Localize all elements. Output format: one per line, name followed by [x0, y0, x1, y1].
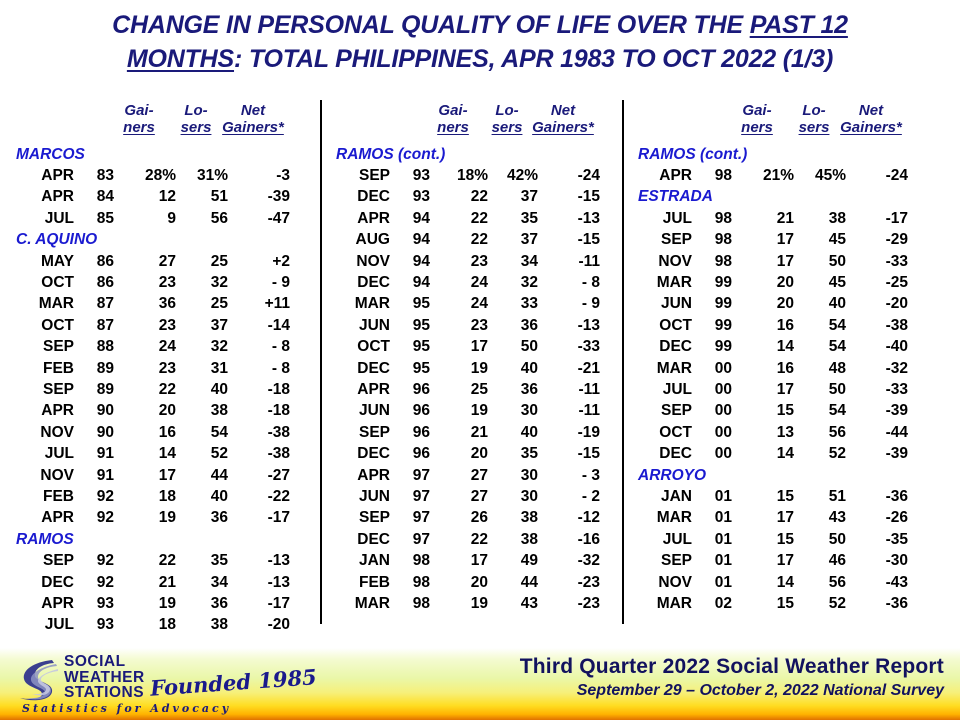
cell-net-gainers: -36 — [846, 488, 908, 506]
table-row: MAY862725+2 — [0, 251, 320, 272]
cell-year: 93 — [74, 595, 114, 613]
cell-gainers: 24 — [430, 274, 488, 292]
cell-month: JUL — [624, 381, 692, 399]
cell-gainers: 14 — [732, 574, 794, 592]
cell-year: 98 — [692, 231, 732, 249]
administration-label: RAMOS (cont.) — [322, 146, 622, 164]
cell-gainers: 20 — [430, 574, 488, 592]
cell-net-gainers: - 2 — [538, 488, 600, 506]
title-line2-plain: : TOTAL PHILIPPINES, APR 1983 TO OCT 202… — [234, 45, 833, 73]
cell-month: DEC — [624, 445, 692, 463]
cell-month: APR — [322, 210, 390, 228]
cell-gainers: 22 — [430, 210, 488, 228]
table-row: DEC962035-15 — [322, 443, 622, 464]
cell-losers: 35 — [488, 445, 538, 463]
cell-month: MAR — [624, 274, 692, 292]
cell-gainers: 15 — [732, 595, 794, 613]
cell-month: SEP — [322, 509, 390, 527]
cell-year: 86 — [74, 274, 114, 292]
cell-month: JUN — [322, 317, 390, 335]
cell-losers: 51 — [176, 188, 228, 206]
cell-month: MAR — [322, 595, 390, 613]
cell-net-gainers: -11 — [538, 381, 600, 399]
cell-gainers: 17 — [732, 552, 794, 570]
sws-logo: SOCIAL WEATHER STATIONS Founded 1985 Sta… — [12, 654, 332, 716]
table-row: DEC932237-15 — [322, 187, 622, 208]
cell-year: 96 — [390, 381, 430, 399]
cell-month: MAR — [624, 360, 692, 378]
cell-net-gainers: -33 — [846, 253, 908, 271]
cell-month: OCT — [0, 317, 74, 335]
cell-year: 01 — [692, 488, 732, 506]
cell-month: SEP — [322, 167, 390, 185]
cell-month: JAN — [322, 552, 390, 570]
logo-founded-script: Founded 1985 — [149, 664, 317, 701]
table-row: FEB892331- 8 — [0, 358, 320, 379]
table-row: DEC922134-13 — [0, 572, 320, 593]
cell-month: APR — [322, 467, 390, 485]
cell-year: 94 — [390, 253, 430, 271]
cell-losers: 32 — [488, 274, 538, 292]
cell-net-gainers: +11 — [228, 295, 290, 313]
cell-year: 98 — [692, 167, 732, 185]
administration-heading: ARROYO — [624, 465, 960, 486]
table-row: MAR873625+11 — [0, 294, 320, 315]
cell-year: 94 — [390, 210, 430, 228]
cell-net-gainers: -16 — [538, 531, 600, 549]
table-row: JUL982138-17 — [624, 208, 960, 229]
cell-gainers: 18 — [114, 616, 176, 634]
cell-year: 00 — [692, 402, 732, 420]
cell-losers: 25 — [176, 253, 228, 271]
table-row: DEC942432- 8 — [322, 272, 622, 293]
cell-losers: 36 — [488, 381, 538, 399]
logo-line-stations: STATIONS — [64, 685, 145, 701]
cell-gainers: 23 — [114, 317, 176, 335]
cell-net-gainers: -18 — [228, 381, 290, 399]
cell-gainers: 17 — [430, 552, 488, 570]
cell-year: 98 — [390, 595, 430, 613]
cell-losers: 37 — [488, 231, 538, 249]
cell-year: 93 — [390, 167, 430, 185]
table-row: JUL911452-38 — [0, 443, 320, 464]
header-losers: Lo- sers — [788, 102, 840, 144]
cell-net-gainers: -22 — [228, 488, 290, 506]
cell-month: APR — [624, 167, 692, 185]
cell-gainers: 16 — [732, 317, 794, 335]
cell-net-gainers: -23 — [538, 574, 600, 592]
cell-month: DEC — [322, 274, 390, 292]
cell-month: SEP — [624, 402, 692, 420]
header-gainers: Gai- ners — [424, 102, 482, 144]
cell-losers: 30 — [488, 402, 538, 420]
cell-month: NOV — [624, 253, 692, 271]
header-gainers: Gai- ners — [726, 102, 788, 144]
cell-year: 01 — [692, 552, 732, 570]
cell-gainers: 21 — [114, 574, 176, 592]
cell-year: 96 — [390, 424, 430, 442]
cell-month: MAY — [0, 253, 74, 271]
cell-losers: 30 — [488, 467, 538, 485]
administration-heading: RAMOS — [0, 529, 320, 550]
cell-month: JAN — [624, 488, 692, 506]
cell-month: APR — [0, 402, 74, 420]
header-spacer — [0, 102, 108, 144]
cell-net-gainers: -23 — [538, 595, 600, 613]
cell-gainers: 14 — [114, 445, 176, 463]
administration-label: ARROYO — [624, 467, 960, 485]
cell-gainers: 14 — [732, 445, 794, 463]
cell-losers: 32 — [176, 274, 228, 292]
cell-year: 01 — [692, 531, 732, 549]
cell-month: DEC — [322, 188, 390, 206]
cell-gainers: 17 — [430, 338, 488, 356]
cell-year: 95 — [390, 360, 430, 378]
cell-losers: 44 — [488, 574, 538, 592]
cell-losers: 43 — [794, 509, 846, 527]
header-losers: Lo- sers — [170, 102, 222, 144]
cell-net-gainers: -13 — [538, 210, 600, 228]
cell-losers: 48 — [794, 360, 846, 378]
cell-month: NOV — [322, 253, 390, 271]
footer-banner: SOCIAL WEATHER STATIONS Founded 1985 Sta… — [0, 648, 960, 720]
cell-year: 99 — [692, 274, 732, 292]
cell-year: 89 — [74, 381, 114, 399]
table-row: JUL011550-35 — [624, 529, 960, 550]
cell-losers: 45 — [794, 231, 846, 249]
cell-month: JUL — [624, 531, 692, 549]
table-row: OCT991654-38 — [624, 315, 960, 336]
table-row: OCT862332- 9 — [0, 272, 320, 293]
cell-losers: 35 — [488, 210, 538, 228]
table-row: JUN961930-11 — [322, 401, 622, 422]
table-row: APR972730- 3 — [322, 465, 622, 486]
cell-losers: 56 — [794, 424, 846, 442]
cell-month: FEB — [0, 488, 74, 506]
cell-gainers: 20 — [430, 445, 488, 463]
table-row: DEC991454-40 — [624, 337, 960, 358]
cell-year: 97 — [390, 488, 430, 506]
cell-gainers: 27 — [430, 467, 488, 485]
cell-net-gainers: -15 — [538, 445, 600, 463]
cell-year: 89 — [74, 360, 114, 378]
cell-month: AUG — [322, 231, 390, 249]
cell-year: 95 — [390, 338, 430, 356]
cell-net-gainers: -11 — [538, 253, 600, 271]
cell-losers: 56 — [176, 210, 228, 228]
cell-month: OCT — [624, 317, 692, 335]
cell-net-gainers: - 9 — [228, 274, 290, 292]
cell-net-gainers: -14 — [228, 317, 290, 335]
cell-net-gainers: -33 — [846, 381, 908, 399]
sws-logo-wordmark: SOCIAL WEATHER STATIONS — [64, 654, 145, 701]
table-row: FEB921840-22 — [0, 486, 320, 507]
cell-losers: 54 — [794, 338, 846, 356]
cell-year: 97 — [390, 531, 430, 549]
cell-losers: 52 — [176, 445, 228, 463]
cell-month: APR — [322, 381, 390, 399]
cell-year: 96 — [390, 402, 430, 420]
cell-year: 93 — [74, 616, 114, 634]
cell-month: MAR — [0, 295, 74, 313]
column-headers: Gai- ners Lo- sers Net Gainers* — [322, 100, 622, 144]
cell-month: NOV — [0, 467, 74, 485]
cell-losers: 31 — [176, 360, 228, 378]
table-row: MAR992045-25 — [624, 272, 960, 293]
administration-label: RAMOS — [0, 531, 320, 549]
cell-month: MAR — [322, 295, 390, 313]
cell-month: APR — [0, 188, 74, 206]
cell-gainers: 9 — [114, 210, 176, 228]
cell-net-gainers: -20 — [846, 295, 908, 313]
cell-gainers: 28% — [114, 167, 176, 185]
table-row: JUN972730- 2 — [322, 486, 622, 507]
cell-gainers: 23 — [114, 274, 176, 292]
header-spacer — [322, 102, 424, 144]
cell-net-gainers: -38 — [228, 424, 290, 442]
cell-net-gainers: -20 — [228, 616, 290, 634]
cell-year: 84 — [74, 188, 114, 206]
cell-year: 92 — [74, 509, 114, 527]
cell-month: DEC — [322, 445, 390, 463]
table-row: FEB982044-23 — [322, 572, 622, 593]
cell-gainers: 17 — [114, 467, 176, 485]
cell-month: APR — [0, 595, 74, 613]
table-panel-2: Gai- ners Lo- sers Net Gainers* RAMOS (c… — [320, 100, 622, 624]
data-tables: Gai- ners Lo- sers Net Gainers* MARCOSAP… — [0, 100, 960, 624]
cell-net-gainers: -24 — [538, 167, 600, 185]
cell-gainers: 13 — [732, 424, 794, 442]
cell-losers: 37 — [488, 188, 538, 206]
cell-losers: 36 — [488, 317, 538, 335]
cell-losers: 44 — [176, 467, 228, 485]
table-row: SEP9318%42%-24 — [322, 165, 622, 186]
cell-losers: 40 — [488, 360, 538, 378]
cell-losers: 54 — [794, 402, 846, 420]
cell-gainers: 22 — [114, 552, 176, 570]
cell-losers: 35 — [176, 552, 228, 570]
cell-losers: 54 — [176, 424, 228, 442]
header-net-gainers: Net Gainers* — [222, 102, 284, 144]
cell-gainers: 20 — [114, 402, 176, 420]
cell-losers: 45 — [794, 274, 846, 292]
table-row: NOV981750-33 — [624, 251, 960, 272]
cell-year: 96 — [390, 445, 430, 463]
cell-year: 95 — [390, 317, 430, 335]
cell-net-gainers: -19 — [538, 424, 600, 442]
cell-year: 98 — [390, 552, 430, 570]
table-panel-1: Gai- ners Lo- sers Net Gainers* MARCOSAP… — [0, 100, 320, 624]
cell-net-gainers: -3 — [228, 167, 290, 185]
cell-gainers: 22 — [430, 531, 488, 549]
cell-year: 87 — [74, 317, 114, 335]
cell-losers: 40 — [176, 381, 228, 399]
cell-losers: 45% — [794, 167, 846, 185]
cell-year: 99 — [692, 295, 732, 313]
cell-net-gainers: +2 — [228, 253, 290, 271]
table-row: MAR981943-23 — [322, 593, 622, 614]
cell-month: JUL — [0, 445, 74, 463]
cell-month: MAR — [624, 595, 692, 613]
cell-month: NOV — [0, 424, 74, 442]
table-row: APR942235-13 — [322, 208, 622, 229]
cell-net-gainers: -32 — [846, 360, 908, 378]
cell-losers: 54 — [794, 317, 846, 335]
table-row: NOV911744-27 — [0, 465, 320, 486]
cell-month: SEP — [624, 231, 692, 249]
cell-losers: 38 — [488, 509, 538, 527]
cell-gainers: 17 — [732, 231, 794, 249]
cell-gainers: 22 — [114, 381, 176, 399]
cell-gainers: 21% — [732, 167, 794, 185]
cell-net-gainers: -21 — [538, 360, 600, 378]
cell-losers: 52 — [794, 595, 846, 613]
cell-gainers: 18 — [114, 488, 176, 506]
table-row: SEP011746-30 — [624, 550, 960, 571]
cell-net-gainers: -24 — [846, 167, 908, 185]
cell-year: 85 — [74, 210, 114, 228]
cell-losers: 30 — [488, 488, 538, 506]
cell-net-gainers: -38 — [228, 445, 290, 463]
table-row: NOV942334-11 — [322, 251, 622, 272]
cell-year: 98 — [692, 253, 732, 271]
header-net-gainers: Net Gainers* — [532, 102, 594, 144]
cell-net-gainers: -13 — [228, 552, 290, 570]
cell-year: 92 — [74, 488, 114, 506]
table-row: DEC951940-21 — [322, 358, 622, 379]
cell-year: 91 — [74, 445, 114, 463]
cell-month: JUN — [624, 295, 692, 313]
cell-year: 99 — [692, 317, 732, 335]
cell-year: 87 — [74, 295, 114, 313]
table-row: SEP981745-29 — [624, 230, 960, 251]
cell-losers: 50 — [794, 531, 846, 549]
cell-losers: 46 — [794, 552, 846, 570]
cell-net-gainers: -18 — [228, 402, 290, 420]
table-row: JUN992040-20 — [624, 294, 960, 315]
cell-losers: 25 — [176, 295, 228, 313]
administration-heading: RAMOS (cont.) — [624, 144, 960, 165]
cell-net-gainers: -33 — [538, 338, 600, 356]
cell-gainers: 17 — [732, 253, 794, 271]
table-row: JUL931838-20 — [0, 615, 320, 636]
cell-gainers: 20 — [732, 295, 794, 313]
cell-year: 92 — [74, 574, 114, 592]
cell-net-gainers: -32 — [538, 552, 600, 570]
cell-losers: 52 — [794, 445, 846, 463]
cell-losers: 50 — [488, 338, 538, 356]
cell-net-gainers: -30 — [846, 552, 908, 570]
administration-label: C. AQUINO — [0, 231, 320, 249]
cell-year: 94 — [390, 231, 430, 249]
cell-month: JUN — [322, 488, 390, 506]
table-row: JUN952336-13 — [322, 315, 622, 336]
cell-month: NOV — [624, 574, 692, 592]
cell-year: 95 — [390, 295, 430, 313]
cell-losers: 33 — [488, 295, 538, 313]
cell-year: 94 — [390, 274, 430, 292]
cell-net-gainers: -13 — [538, 317, 600, 335]
cell-gainers: 15 — [732, 402, 794, 420]
title-line1-plain: CHANGE IN PERSONAL QUALITY OF LIFE OVER … — [112, 11, 750, 39]
cell-net-gainers: -13 — [228, 574, 290, 592]
cell-year: 97 — [390, 509, 430, 527]
cell-gainers: 19 — [430, 360, 488, 378]
cell-year: 02 — [692, 595, 732, 613]
cell-year: 97 — [390, 467, 430, 485]
cell-year: 98 — [692, 210, 732, 228]
cell-year: 83 — [74, 167, 114, 185]
cell-net-gainers: -17 — [846, 210, 908, 228]
cell-net-gainers: -35 — [846, 531, 908, 549]
cell-net-gainers: - 8 — [228, 338, 290, 356]
table-row: JUL001750-33 — [624, 379, 960, 400]
cell-month: SEP — [624, 552, 692, 570]
cell-year: 92 — [74, 552, 114, 570]
cell-net-gainers: -38 — [846, 317, 908, 335]
sws-swirl-logo-icon — [12, 656, 60, 702]
cell-losers: 40 — [794, 295, 846, 313]
cell-net-gainers: - 8 — [228, 360, 290, 378]
cell-net-gainers: -39 — [846, 402, 908, 420]
cell-losers: 40 — [488, 424, 538, 442]
page-title: CHANGE IN PERSONAL QUALITY OF LIFE OVER … — [0, 8, 960, 76]
cell-year: 00 — [692, 360, 732, 378]
table-row: MAR952433- 9 — [322, 294, 622, 315]
cell-gainers: 17 — [732, 509, 794, 527]
table-row: APR841251-39 — [0, 187, 320, 208]
cell-losers: 50 — [794, 381, 846, 399]
title-line2-underlined: MONTHS — [127, 45, 234, 73]
cell-year: 90 — [74, 402, 114, 420]
cell-gainers: 19 — [430, 595, 488, 613]
cell-net-gainers: - 9 — [538, 295, 600, 313]
cell-losers: 51 — [794, 488, 846, 506]
table-row: APR921936-17 — [0, 508, 320, 529]
cell-losers: 37 — [176, 317, 228, 335]
cell-net-gainers: -36 — [846, 595, 908, 613]
cell-month: APR — [0, 509, 74, 527]
table-row: MAR001648-32 — [624, 358, 960, 379]
cell-gainers: 23 — [430, 253, 488, 271]
administration-label: RAMOS (cont.) — [624, 146, 960, 164]
table-row: APR9821%45%-24 — [624, 165, 960, 186]
header-net-gainers: Net Gainers* — [840, 102, 902, 144]
cell-year: 91 — [74, 467, 114, 485]
cell-losers: 40 — [176, 488, 228, 506]
cell-year: 90 — [74, 424, 114, 442]
cell-year: 86 — [74, 253, 114, 271]
cell-gainers: 12 — [114, 188, 176, 206]
cell-year: 00 — [692, 445, 732, 463]
cell-year: 93 — [390, 188, 430, 206]
cell-gainers: 19 — [430, 402, 488, 420]
administration-heading: C. AQUINO — [0, 230, 320, 251]
cell-losers: 38 — [794, 210, 846, 228]
cell-losers: 32 — [176, 338, 228, 356]
cell-month: SEP — [322, 424, 390, 442]
cell-losers: 50 — [794, 253, 846, 271]
table-row: SEP972638-12 — [322, 508, 622, 529]
table-row: OCT001356-44 — [624, 422, 960, 443]
footer-report-subtitle: September 29 – October 2, 2022 National … — [520, 680, 944, 702]
cell-losers: 49 — [488, 552, 538, 570]
table-row: OCT951750-33 — [322, 337, 622, 358]
cell-month: SEP — [0, 381, 74, 399]
cell-gainers: 26 — [430, 509, 488, 527]
table-row: DEC972238-16 — [322, 529, 622, 550]
cell-losers: 38 — [488, 531, 538, 549]
